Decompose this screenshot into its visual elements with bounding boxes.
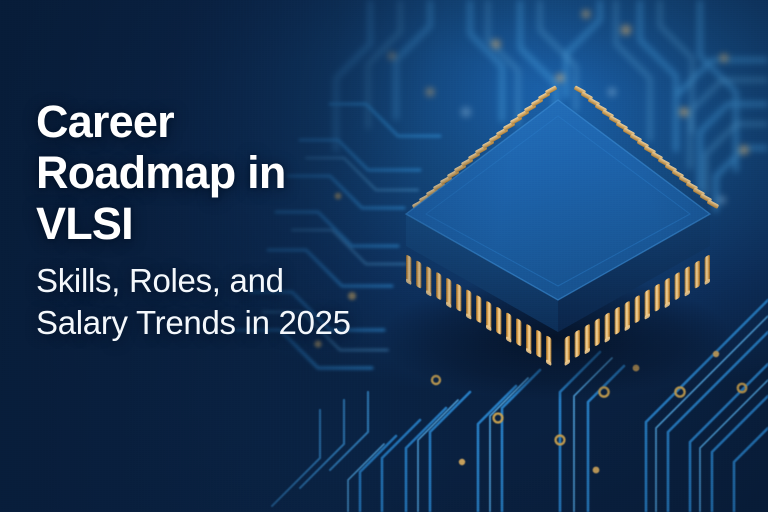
headline-line-2: Roadmap in	[36, 147, 436, 198]
headline-line-1: Career	[36, 96, 436, 147]
vlsi-career-roadmap-banner: Career Roadmap in VLSI Skills, Roles, an…	[0, 0, 768, 512]
subtitle-line-2: Salary Trends in 2025	[36, 302, 436, 344]
banner-text-block: Career Roadmap in VLSI Skills, Roles, an…	[36, 96, 436, 344]
headline-line-3: VLSI	[36, 198, 436, 249]
subtitle-line-1: Skills, Roles, and	[36, 260, 436, 302]
